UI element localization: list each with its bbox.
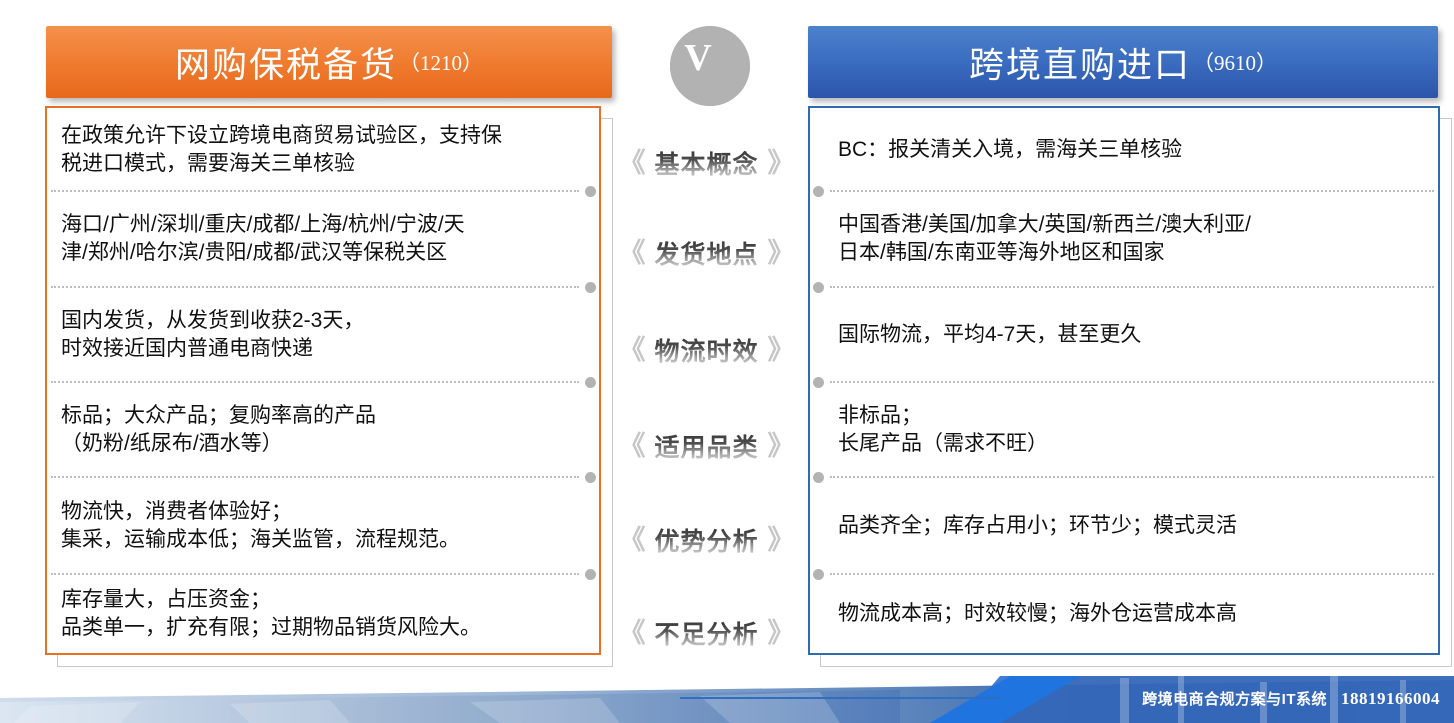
- right-panel: BC：报关清关入境，需海关三单核验中国香港/美国/加拿大/英国/新西兰/澳大利亚…: [808, 106, 1440, 655]
- left-row-text-4: 标品；大众产品；复购率高的产品 （奶粉/纸尿布/酒水等）: [47, 402, 390, 457]
- chevron-right-icon: 》: [768, 337, 795, 364]
- center-label-text-6: 不足分析: [654, 615, 758, 651]
- right-row-4: 非标品； 长尾产品（需求不旺）: [810, 382, 1438, 477]
- right-header-code: （9610）: [1193, 47, 1277, 77]
- right-row-6: 物流成本高；时效较慢；海外仓运营成本高: [810, 574, 1438, 653]
- left-header-title: 网购保税备货: [175, 37, 397, 88]
- left-row-text-6: 库存量大，占压资金； 品类单一，扩充有限；过期物品销货风险大。: [47, 586, 495, 641]
- chevron-right-icon: 》: [768, 433, 795, 460]
- center-label-text-5: 优势分析: [654, 522, 758, 558]
- chevron-right-icon: 》: [768, 150, 795, 177]
- right-row-3: 国际物流，平均4-7天，甚至更久: [810, 287, 1438, 382]
- chevron-right-icon: 》: [768, 240, 795, 267]
- left-row-6: 库存量大，占压资金； 品类单一，扩充有限；过期物品销货风险大。: [47, 574, 599, 653]
- right-row-text-5: 品类齐全；库存占用小；环节少；模式灵活: [810, 512, 1251, 540]
- chevron-left-icon: 《: [618, 620, 645, 647]
- right-row-text-2: 中国香港/美国/加拿大/英国/新西兰/澳大利亚/ 日本/韩国/东南亚等海外地区和…: [810, 211, 1265, 266]
- left-row-text-2: 海口/广州/深圳/重庆/成都/上海/杭州/宁波/天 津/郑州/哈尔滨/贵阳/成都…: [47, 211, 479, 266]
- right-row-text-3: 国际物流，平均4-7天，甚至更久: [810, 321, 1155, 349]
- left-row-3: 国内发货，从发货到收获2-3天， 时效接近国内普通电商快递: [47, 287, 599, 382]
- right-row-1: BC：报关清关入境，需海关三单核验: [810, 108, 1438, 191]
- left-row-text-3: 国内发货，从发货到收获2-3天， 时效接近国内普通电商快递: [47, 307, 378, 362]
- footer-phone: 18819166004: [1341, 689, 1440, 708]
- chevron-left-icon: 《: [618, 337, 645, 364]
- center-label-6: 《不足分析》: [604, 611, 809, 655]
- center-label-text-1: 基本概念: [654, 145, 758, 181]
- center-label-text-4: 适用品类: [654, 428, 758, 464]
- center-label-2: 《发货地点》: [604, 231, 809, 275]
- chevron-left-icon: 《: [618, 433, 645, 460]
- right-row-text-6: 物流成本高；时效较慢；海外仓运营成本高: [810, 600, 1251, 628]
- left-row-4: 标品；大众产品；复购率高的产品 （奶粉/纸尿布/酒水等）: [47, 382, 599, 477]
- center-label-4: 《适用品类》: [604, 424, 809, 468]
- footer-band: 跨境电商合规方案与IT系统18819166004: [0, 676, 1454, 723]
- center-label-5: 《优势分析》: [604, 518, 809, 562]
- slide-root: 网购保税备货（1210） 跨境直购进口（9610） V S 在政策允许下设立跨境…: [0, 0, 1454, 723]
- left-header-code: （1210）: [399, 47, 483, 77]
- right-row-5: 品类齐全；库存占用小；环节少；模式灵活: [810, 477, 1438, 574]
- center-label-3: 《物流时效》: [604, 328, 809, 372]
- left-panel: 在政策允许下设立跨境电商贸易试验区，支持保 税进口模式，需要海关三单核验海口/广…: [45, 106, 601, 655]
- left-row-1: 在政策允许下设立跨境电商贸易试验区，支持保 税进口模式，需要海关三单核验: [47, 108, 599, 191]
- left-row-text-1: 在政策允许下设立跨境电商贸易试验区，支持保 税进口模式，需要海关三单核验: [47, 122, 516, 177]
- right-row-2: 中国香港/美国/加拿大/英国/新西兰/澳大利亚/ 日本/韩国/东南亚等海外地区和…: [810, 191, 1438, 287]
- versus-icon: V S: [662, 18, 758, 114]
- center-label-text-3: 物流时效: [654, 332, 758, 368]
- footer-brand-text: 跨境电商合规方案与IT系统18819166004: [1142, 688, 1440, 709]
- center-label-1: 《基本概念》: [604, 141, 809, 185]
- footer-brand: 跨境电商合规方案与IT系统: [1142, 691, 1327, 708]
- center-label-text-2: 发货地点: [654, 235, 758, 271]
- chevron-right-icon: 》: [768, 527, 795, 554]
- footer-accent-line: [680, 697, 1000, 699]
- left-row-5: 物流快，消费者体验好； 集采，运输成本低；海关监管，流程规范。: [47, 477, 599, 574]
- right-row-text-1: BC：报关清关入境，需海关三单核验: [810, 136, 1196, 164]
- right-header-title: 跨境直购进口: [969, 37, 1191, 88]
- left-row-text-5: 物流快，消费者体验好； 集采，运输成本低；海关监管，流程规范。: [47, 498, 474, 553]
- svg-text:V: V: [684, 37, 712, 79]
- right-row-text-4: 非标品； 长尾产品（需求不旺）: [810, 402, 1062, 457]
- center-label-column: 《基本概念》《发货地点》《物流时效》《适用品类》《优势分析》《不足分析》: [604, 106, 809, 655]
- left-column-header: 网购保税备货（1210）: [46, 26, 612, 98]
- chevron-right-icon: 》: [768, 620, 795, 647]
- right-column-header: 跨境直购进口（9610）: [808, 26, 1438, 98]
- chevron-left-icon: 《: [618, 150, 645, 177]
- svg-text:S: S: [713, 61, 732, 98]
- chevron-left-icon: 《: [618, 240, 645, 267]
- left-row-2: 海口/广州/深圳/重庆/成都/上海/杭州/宁波/天 津/郑州/哈尔滨/贵阳/成都…: [47, 191, 599, 287]
- chevron-left-icon: 《: [618, 527, 645, 554]
